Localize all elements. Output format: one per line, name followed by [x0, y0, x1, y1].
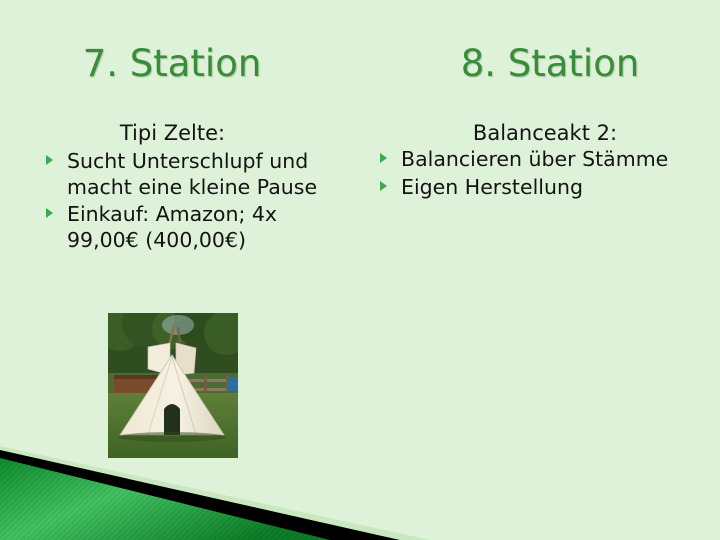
column-station-7: 7. Station Tipi Zelte: Sucht Unterschlup…: [0, 0, 360, 540]
triangle-bullet-icon: [380, 153, 387, 163]
list-item-label: Einkauf: Amazon; 4x 99,00€ (400,00€): [67, 202, 277, 252]
slide: 7. Station Tipi Zelte: Sucht Unterschlup…: [0, 0, 720, 540]
bullet-list-station-8: Balancieren über Stämme Eigen Herstellun…: [378, 147, 698, 202]
list-item: Eigen Herstellung: [378, 175, 698, 201]
page-title-station-7: 7. Station: [0, 42, 352, 86]
bullet-list-station-7: Sucht Unterschlupf und macht eine kleine…: [44, 149, 349, 255]
list-item: Einkauf: Amazon; 4x 99,00€ (400,00€): [44, 202, 349, 253]
sub-heading-station-7: Tipi Zelte:: [0, 120, 345, 146]
list-item-label: Eigen Herstellung: [401, 175, 583, 199]
page-title-station-8: 8. Station: [370, 42, 720, 86]
triangle-bullet-icon: [46, 208, 53, 218]
sub-heading-station-8: Balanceakt 2:: [380, 120, 710, 146]
triangle-bullet-icon: [380, 181, 387, 191]
tipi-tent-photo: [108, 313, 238, 458]
triangle-bullet-icon: [46, 155, 53, 165]
column-station-8: 8. Station Balanceakt 2: Balancieren übe…: [360, 0, 720, 540]
list-item-label: Balancieren über Stämme: [401, 147, 668, 171]
list-item-label: Sucht Unterschlupf und macht eine kleine…: [67, 149, 317, 199]
list-item: Balancieren über Stämme: [378, 147, 698, 173]
list-item: Sucht Unterschlupf und macht eine kleine…: [44, 149, 349, 200]
